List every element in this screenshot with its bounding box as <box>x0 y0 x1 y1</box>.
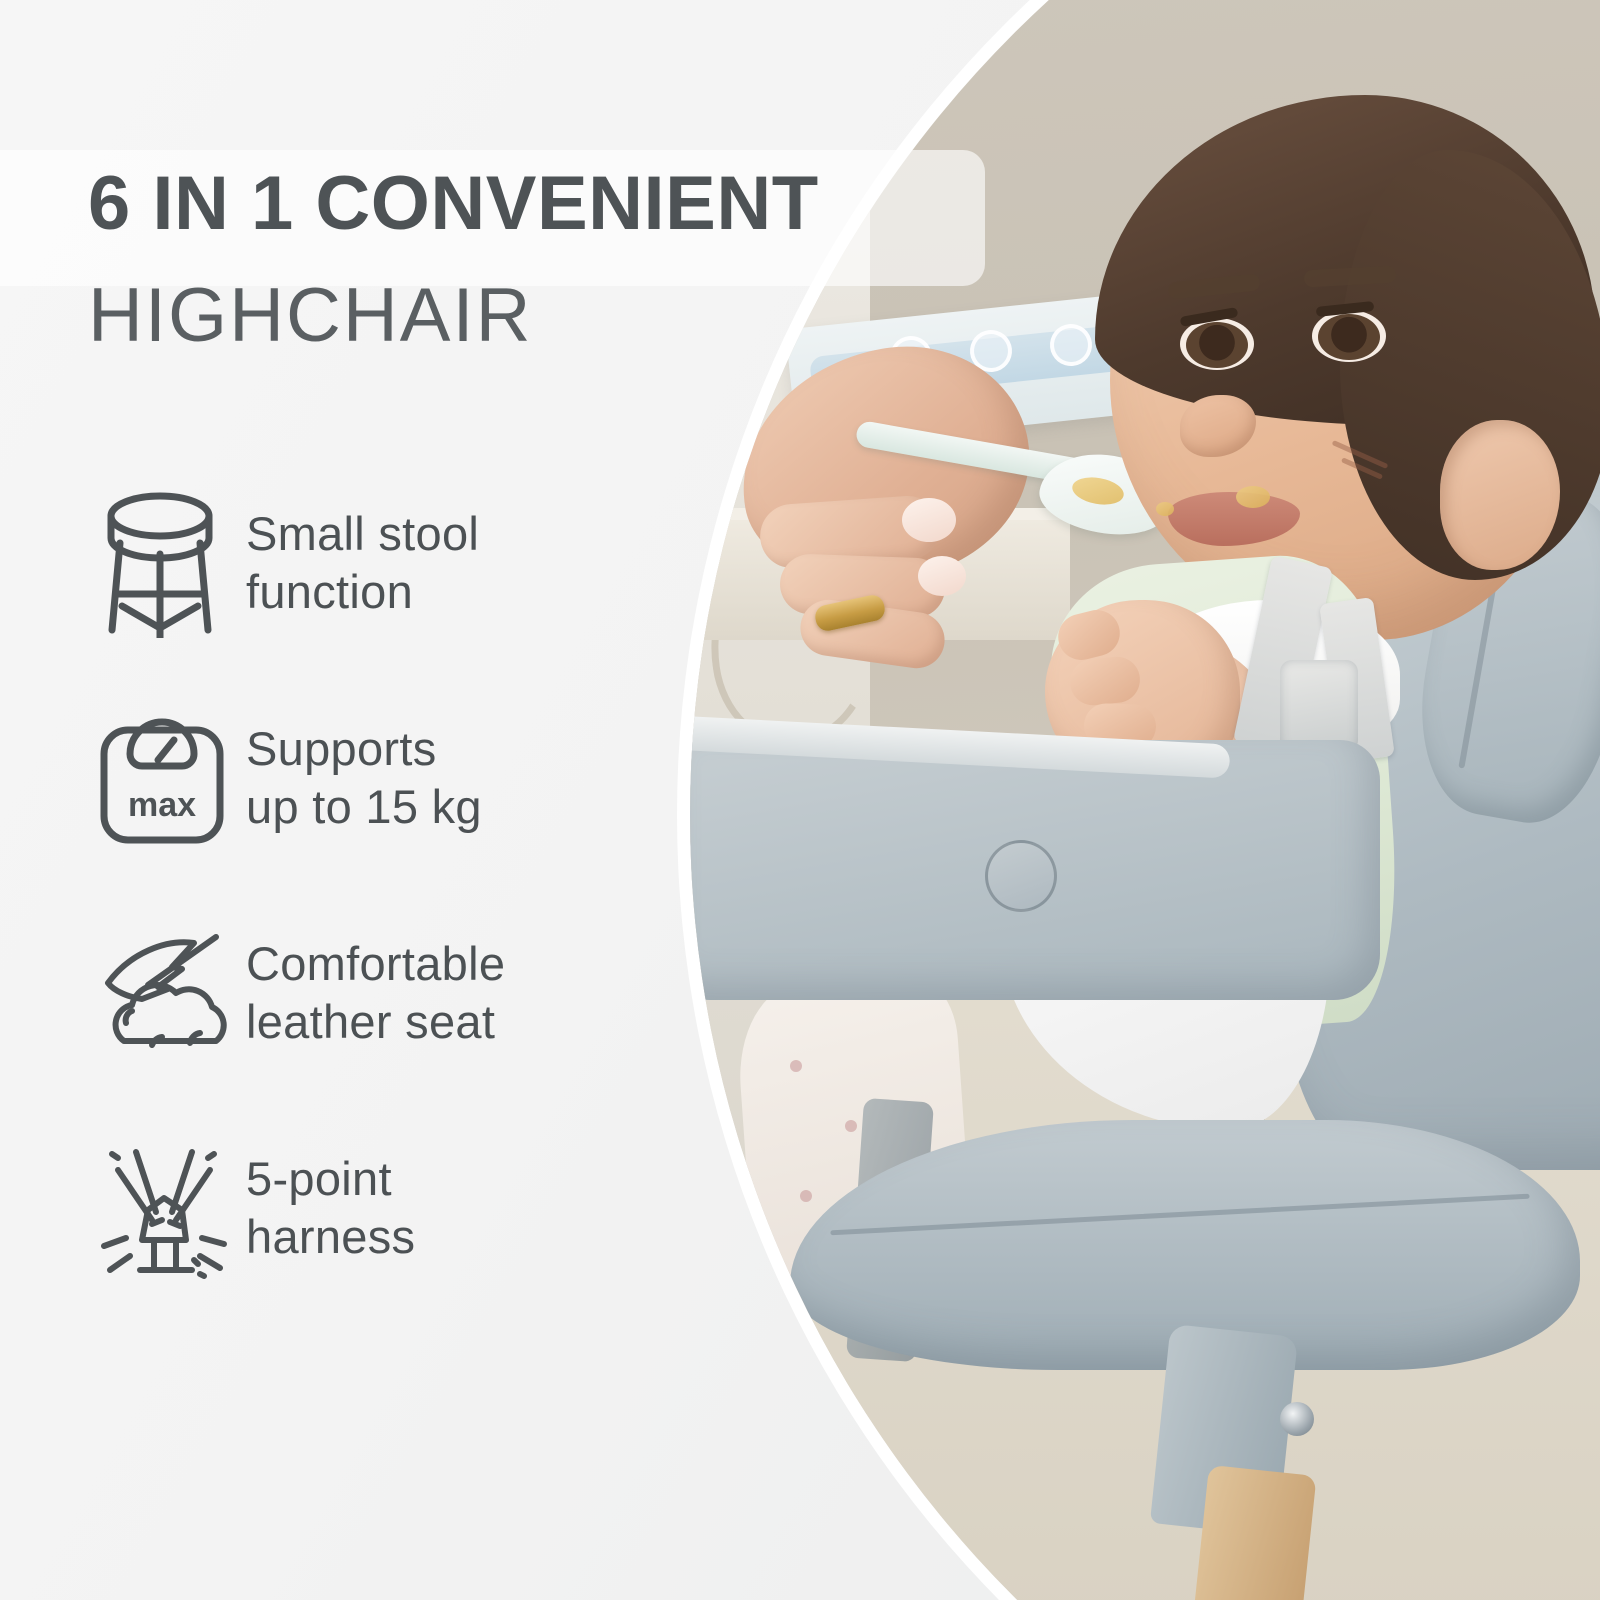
text-column: 6 IN 1 CONVENIENT HIGHCHAIR <box>0 0 700 1600</box>
page-title-line1: 6 IN 1 CONVENIENT <box>88 160 819 247</box>
page-title-line2: HIGHCHAIR <box>88 272 532 359</box>
feature-label: Supports up to 15 kg <box>246 720 482 835</box>
feature-label: Small stool function <box>246 505 479 620</box>
feature-list: Small stool function max Supports up to … <box>96 455 696 1315</box>
harness-buckle-icon <box>96 1136 246 1280</box>
feature-label: 5-point harness <box>246 1150 415 1265</box>
feature-item-small-stool: Small stool function <box>96 455 696 670</box>
stool-icon <box>96 488 246 638</box>
scale-max-label: max <box>128 786 196 824</box>
infographic-canvas: 6 IN 1 CONVENIENT HIGHCHAIR <box>0 0 1600 1600</box>
feature-label: Comfortable leather seat <box>246 935 505 1050</box>
feature-item-leather-seat: Comfortable leather seat <box>96 885 696 1100</box>
scale-max-icon: max <box>96 708 246 848</box>
feature-item-harness: 5-point harness <box>96 1100 696 1315</box>
feather-cloud-icon <box>96 927 246 1059</box>
feature-item-weight-capacity: max Supports up to 15 kg <box>96 670 696 885</box>
